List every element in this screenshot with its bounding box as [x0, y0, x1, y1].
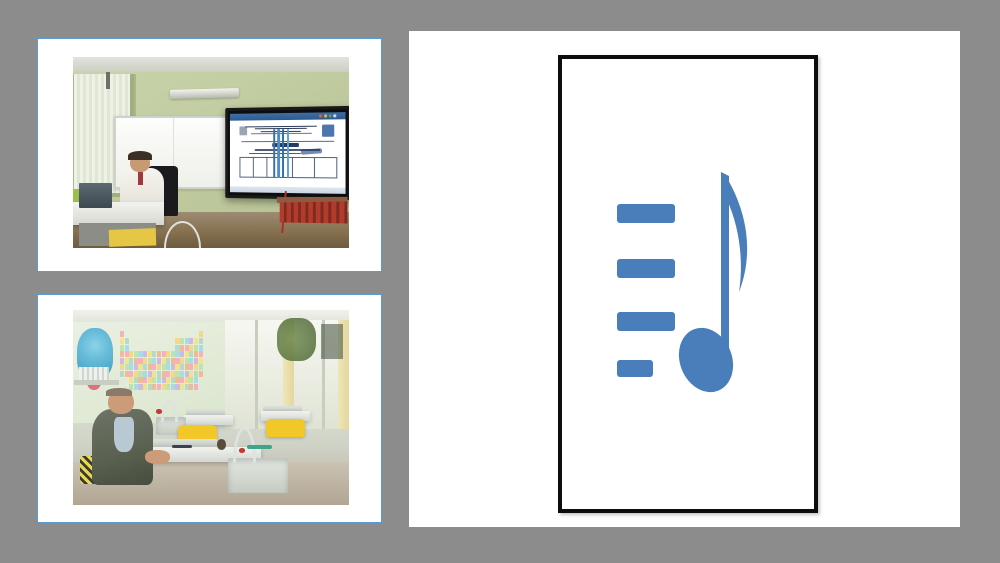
- red-valve-knob: [156, 409, 162, 413]
- periodic-table-mural: [120, 331, 203, 390]
- wall-conduit: [106, 72, 110, 89]
- photo-frame-2[interactable]: [37, 294, 382, 523]
- foreground-man-hair: [106, 388, 132, 396]
- note-flag: [727, 178, 747, 292]
- handwritten-date: [301, 148, 322, 154]
- foreground-man-shirt: [114, 417, 133, 452]
- taskbar: [231, 186, 346, 193]
- photo-image-chemistry-classroom: [73, 310, 349, 505]
- yellow-bench-panel: [109, 228, 156, 247]
- audio-bar-2: [617, 259, 675, 278]
- green-hose: [247, 445, 272, 449]
- radiator: [280, 202, 348, 224]
- laptop: [79, 183, 112, 208]
- audio-bar-4: [617, 360, 653, 377]
- tie: [138, 172, 144, 185]
- pen-on-bench: [172, 445, 191, 448]
- lab-bench: [183, 415, 233, 425]
- photo-frame-1[interactable]: [37, 38, 382, 272]
- wall-shelf: [74, 380, 118, 385]
- sink-foreground: [228, 458, 289, 493]
- wall-tv: [226, 106, 349, 200]
- slide-canvas: [0, 0, 1000, 563]
- test-tube-rack: [79, 367, 109, 382]
- media-placeholder-frame[interactable]: [558, 55, 818, 513]
- audio-music-note-icon: [613, 164, 763, 404]
- note-head: [670, 320, 743, 401]
- tv-screen: [231, 112, 346, 193]
- audio-bar-3: [617, 312, 675, 331]
- chalkboard: [321, 324, 343, 359]
- photo-image-classroom-presentation: [73, 57, 349, 248]
- tree-outside-window: [277, 318, 316, 361]
- document-logo: [322, 124, 335, 136]
- foreground-man-hands: [145, 450, 170, 464]
- content-panel[interactable]: [409, 31, 960, 527]
- person-hair: [128, 151, 151, 161]
- audio-bar-1: [617, 204, 675, 223]
- classroom-chair: [266, 419, 305, 437]
